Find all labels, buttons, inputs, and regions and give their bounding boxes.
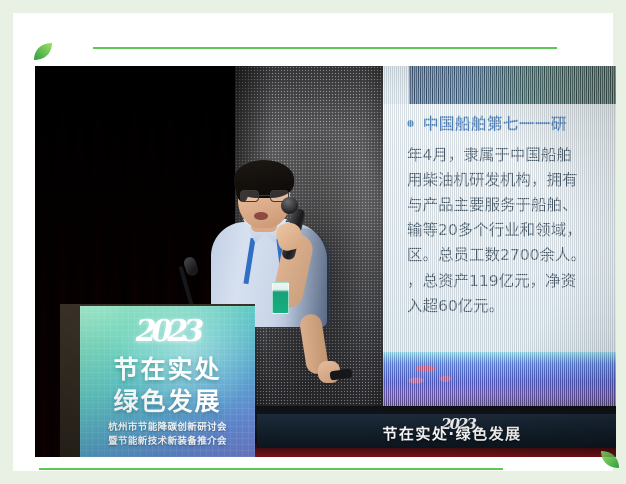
speaker-mouth	[254, 212, 268, 220]
slide-heading: 中国船舶第七一一研	[423, 112, 567, 134]
podium-subtitle-line2: 暨节能新技术新装备推介会	[80, 435, 255, 449]
slide-text-block: 中国船舶第七一一研 年4月，隶属于中国船舶 用柴油机研发机构，拥有 与产品主要服…	[407, 112, 616, 319]
podium-title-line2: 绿色发展	[80, 386, 255, 418]
podium-title-line1: 节在实处	[80, 354, 255, 386]
leaf-icon	[600, 451, 620, 469]
slide-line: 年4月，隶属于中国船舶	[407, 143, 616, 168]
podium-signboard: 2023 节在实处 绿色发展 杭州市节能降碳创新研讨会 暨节能新技术新装备推介会	[80, 306, 255, 457]
slide-line: 区。总员工数2700余人。	[407, 243, 616, 268]
slide-line: 用柴油机研发机构，拥有	[407, 168, 616, 193]
bullet-dot-icon	[407, 120, 414, 127]
slide-line: 入超60亿元。	[407, 294, 616, 319]
divider-bottom	[39, 468, 503, 470]
podium-year-logo: 2023	[136, 314, 200, 349]
page-root: 中国船舶第七一一研 年4月，隶属于中国船舶 用柴油机研发机构，拥有 与产品主要服…	[0, 0, 626, 484]
presenter-clicker	[329, 369, 352, 381]
slide-line: 与产品主要服务于船舶、	[407, 193, 616, 218]
podium-subtitle-line1: 杭州市节能降碳创新研讨会	[80, 421, 255, 435]
podium-title: 节在实处 绿色发展	[80, 354, 255, 418]
conference-photo: 中国船舶第七一一研 年4月，隶属于中国船舶 用柴油机研发机构，拥有 与产品主要服…	[35, 66, 616, 457]
slide-line: ，总资产119亿元，净资	[407, 269, 616, 294]
podium-subtitle: 杭州市节能降碳创新研讨会 暨节能新技术新装备推介会	[80, 421, 255, 450]
leaf-icon	[33, 43, 53, 61]
divider-top	[93, 47, 557, 49]
name-badge	[272, 282, 289, 314]
slide-bullet-row: 中国船舶第七一一研	[407, 112, 616, 134]
content-card: 中国船舶第七一一研 年4月，隶属于中国船舶 用柴油机研发机构，拥有 与产品主要服…	[13, 13, 613, 471]
slide-line: 输等20多个行业和领域，	[407, 218, 616, 243]
